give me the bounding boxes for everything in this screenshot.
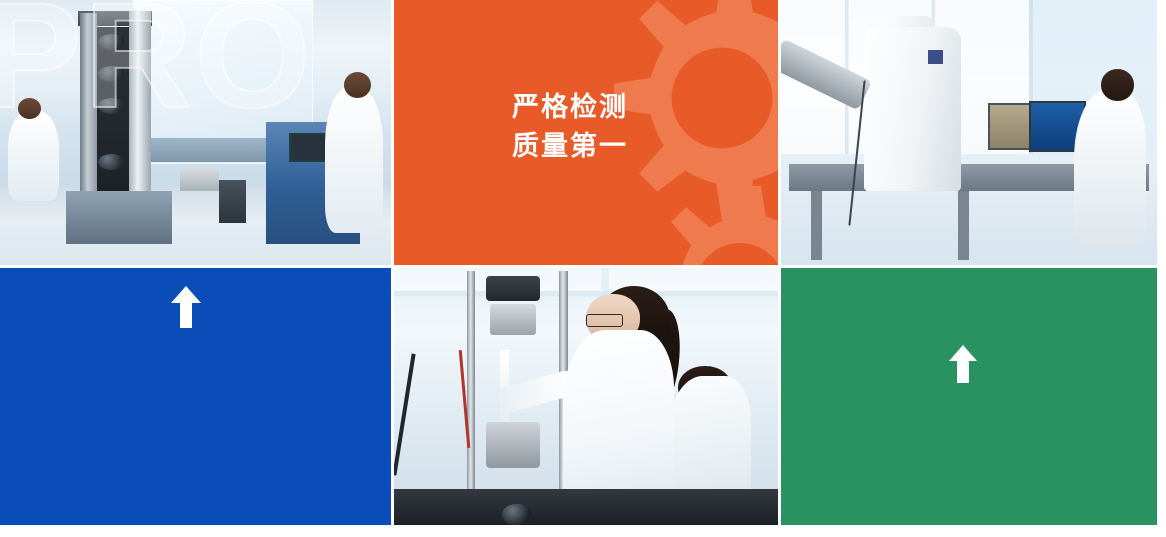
aux-tower [219, 180, 246, 222]
sem-operator-coat [1074, 90, 1145, 244]
sem-chamber [864, 27, 962, 191]
sem-badge [928, 50, 943, 63]
bottom-center-photo-cell[interactable] [394, 268, 778, 525]
quality-slogan-line2: 质量第一 [512, 127, 628, 166]
seam-horizontal [0, 265, 1166, 268]
gear-secondary-icon [590, 168, 778, 265]
fatigue-load-cell-lower [486, 422, 540, 468]
fatigue-handwheel [502, 504, 533, 525]
top-left-photo-cell[interactable]: PRO [0, 0, 391, 265]
icp-caption-panel[interactable]: 美国PE电感耦合等离子发射光谱仪 [781, 268, 1157, 525]
arrow-up-icon [946, 343, 980, 385]
seam-bottom-margin [0, 525, 1166, 537]
quality-slogan-panel[interactable]: 严格检测 质量第一 [394, 0, 778, 265]
sem-bench-leg-mid [958, 191, 969, 260]
seam-right-margin [1157, 0, 1166, 537]
bottom-center-photo [394, 268, 778, 525]
utm-grip-bottom [98, 154, 125, 170]
top-right-photo [781, 0, 1157, 265]
seam-vertical-left [391, 0, 394, 525]
technician-right-coat [325, 87, 384, 233]
mts-caption-panel[interactable]: 微机控制电子万能试验机 美国MTS电液伺服疲劳试验机 [0, 268, 391, 525]
top-right-photo-cell[interactable] [781, 0, 1157, 265]
arrow-up-icon [168, 284, 204, 330]
utm-grip-lower [98, 98, 125, 114]
quality-slogan: 严格检测 质量第一 [512, 88, 628, 166]
fatigue-load-cell-upper [490, 304, 536, 335]
fatigue-actuator [486, 276, 540, 302]
technician-left-coat [8, 111, 59, 201]
capability-grid: PRO 严格检测 质量第一 [0, 0, 1166, 537]
aux-controller [180, 167, 219, 191]
sem-operator-head [1101, 69, 1135, 101]
top-left-photo: PRO [0, 0, 391, 265]
technician-left-head [18, 98, 41, 119]
technician-glasses [586, 314, 623, 326]
fatigue-base-bench [394, 489, 778, 525]
sem-bench-leg-left [811, 191, 822, 260]
utm-base [66, 191, 172, 244]
quality-slogan-line1: 严格检测 [512, 88, 628, 127]
sem-monitor-secondary [988, 103, 1033, 149]
seam-vertical-right [778, 0, 781, 525]
fatigue-frame-left [467, 271, 475, 507]
